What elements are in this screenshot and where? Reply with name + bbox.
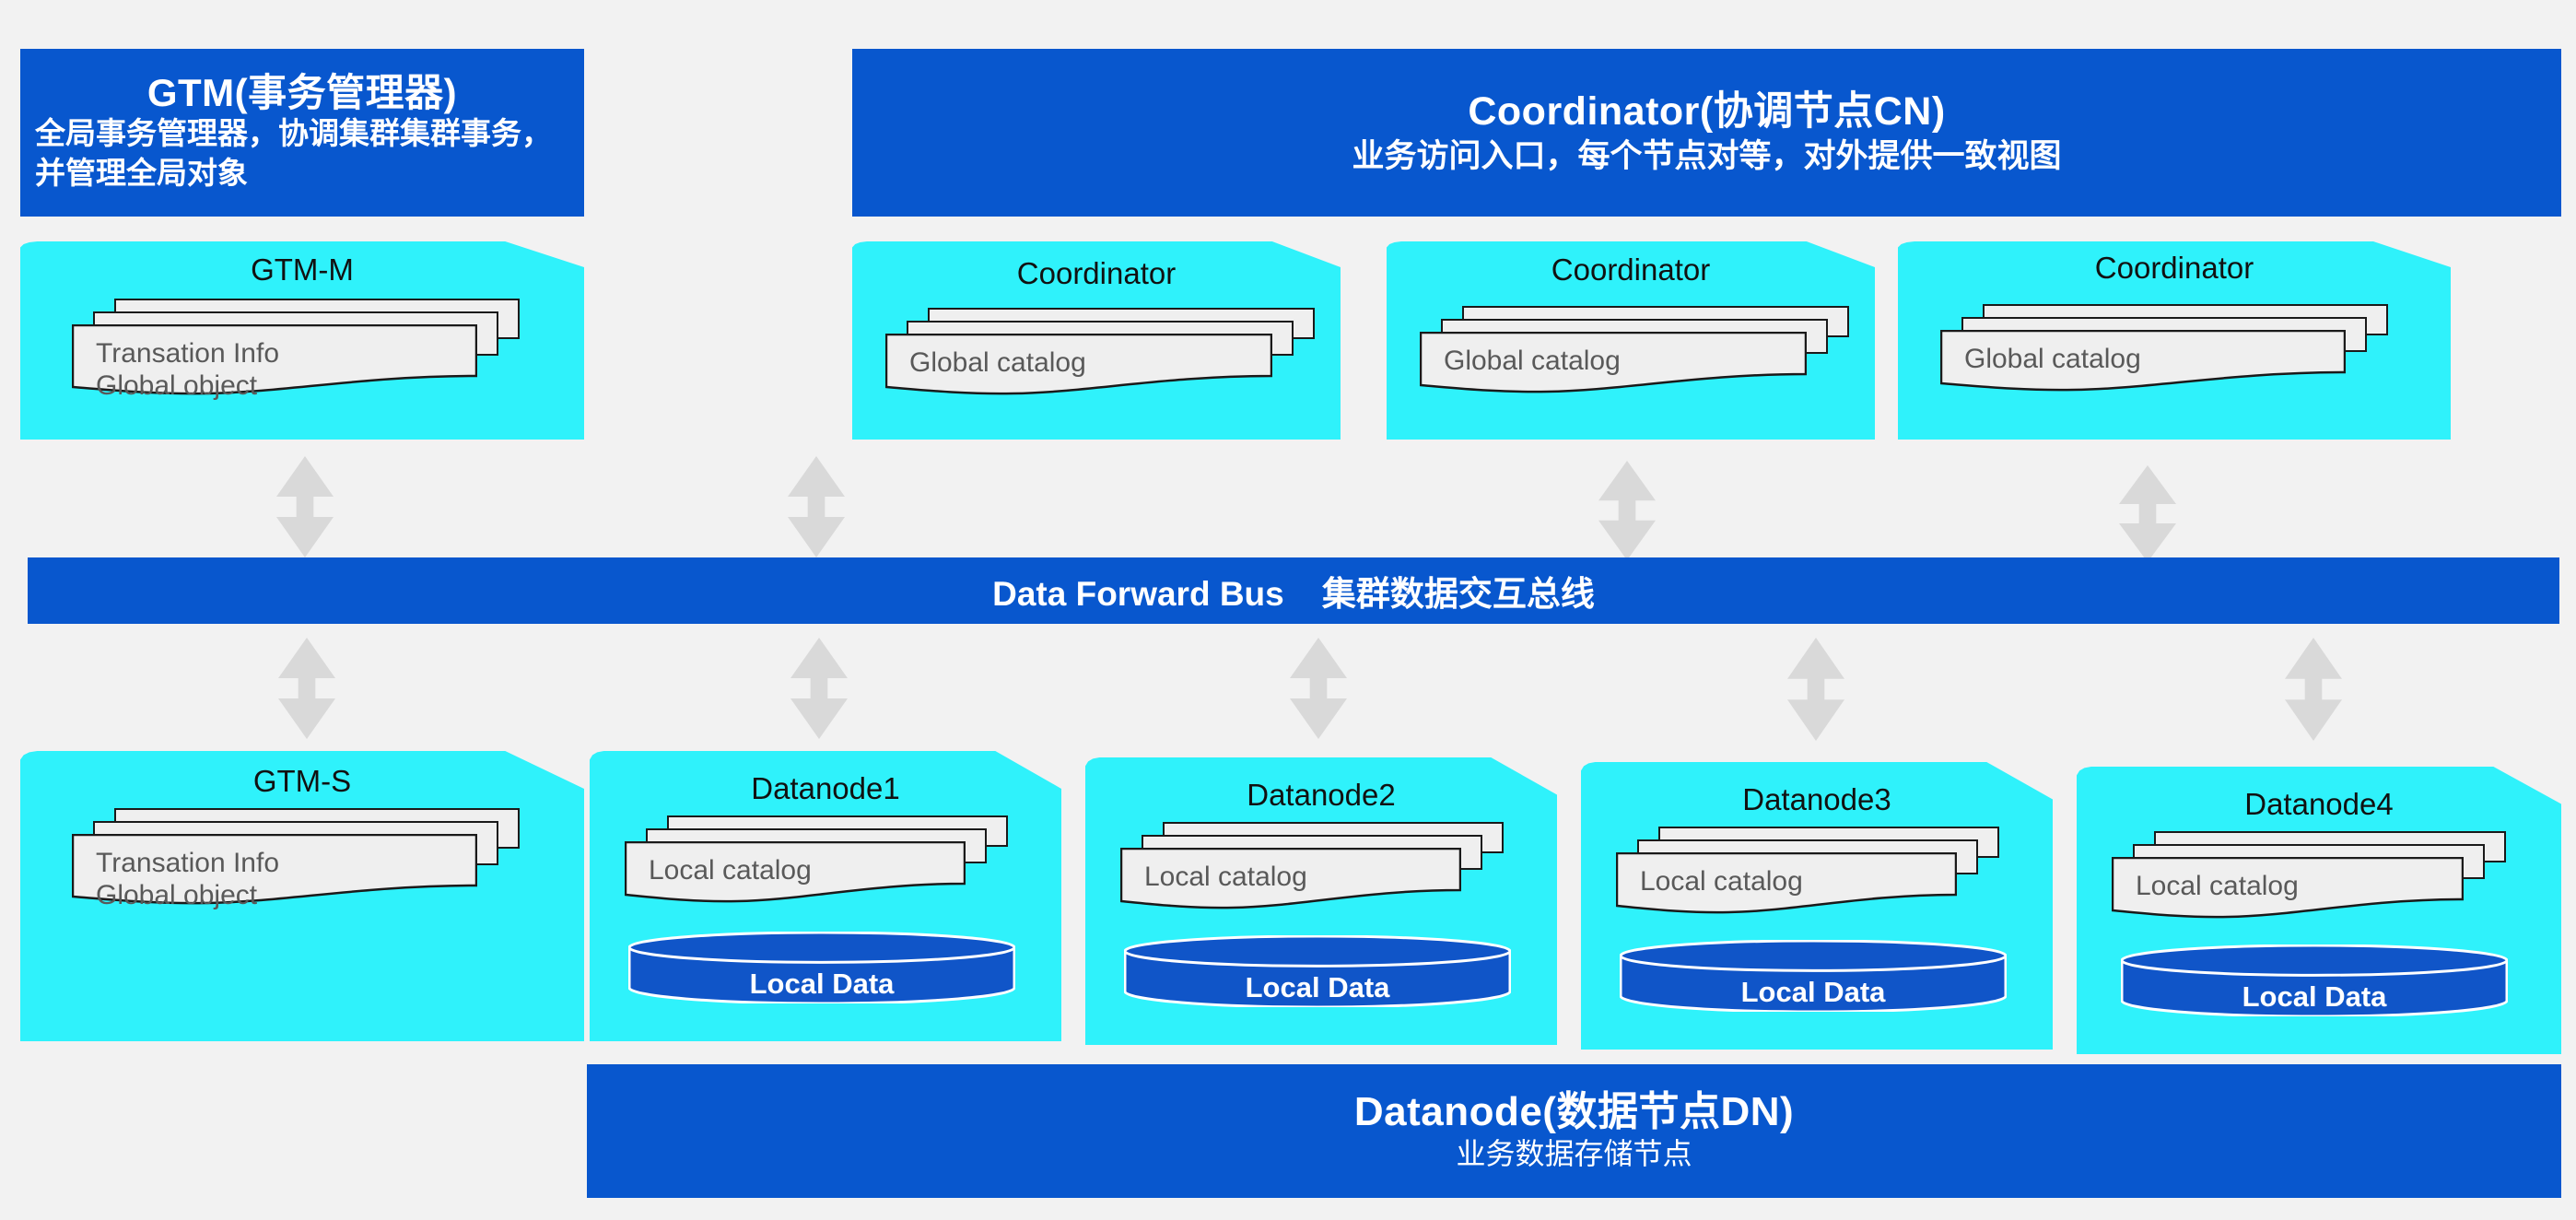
node-title: Coordinator xyxy=(1387,252,1875,287)
bottom-node-3[interactable]: Datanode3Local catalogLocal Data xyxy=(1581,762,2053,1050)
datanode-banner: Datanode(数据节点DN) 业务数据存储节点 xyxy=(587,1064,2561,1198)
bottom-node-2[interactable]: Datanode2Local catalogLocal Data xyxy=(1085,757,1557,1045)
document-sheet-front xyxy=(2112,857,2464,920)
top-node-3[interactable]: CoordinatorGlobal catalog xyxy=(1898,241,2451,440)
top-node-1[interactable]: CoordinatorGlobal catalog xyxy=(852,241,1341,440)
database-cylinder: Local Data xyxy=(2121,944,2508,1016)
bidirectional-arrow-lower-0 xyxy=(278,638,335,739)
document-sheet-front xyxy=(625,841,966,904)
bidirectional-arrow-lower-3 xyxy=(1787,638,1844,741)
database-cylinder: Local Data xyxy=(628,932,1015,1003)
node-title: GTM-S xyxy=(20,764,584,799)
document-stack: Local catalog xyxy=(1120,822,1504,912)
coordinator-banner-subtitle: 业务访问入口，每个节点对等，对外提供一致视图 xyxy=(1352,135,2061,178)
document-stack: Global catalog xyxy=(1940,304,2388,394)
bidirectional-arrow-lower-4 xyxy=(2285,638,2342,741)
bottom-node-1[interactable]: Datanode1Local catalogLocal Data xyxy=(590,751,1061,1041)
bidirectional-arrow-upper-2 xyxy=(1598,461,1656,560)
node-title: Datanode3 xyxy=(1581,782,2053,817)
bidirectional-arrow-lower-1 xyxy=(790,638,848,739)
bottom-node-0[interactable]: GTM-STransation Info Global object xyxy=(20,751,584,1041)
document-sheet-front xyxy=(885,334,1272,396)
bidirectional-arrow-upper-0 xyxy=(276,456,334,557)
document-stack: Transation Info Global object xyxy=(72,299,520,398)
bottom-node-4[interactable]: Datanode4Local catalogLocal Data xyxy=(2077,767,2561,1054)
gtm-banner-title: GTM(事务管理器) xyxy=(35,71,569,114)
gtm-banner-subtitle: 全局事务管理器，协调集群集群事务，并管理全局对象 xyxy=(35,114,569,192)
coordinator-banner-title: Coordinator(协调节点CN) xyxy=(1468,88,1945,135)
bidirectional-arrow-lower-2 xyxy=(1290,638,1347,739)
bidirectional-arrow-upper-1 xyxy=(788,456,845,557)
top-node-2[interactable]: CoordinatorGlobal catalog xyxy=(1387,241,1875,440)
document-sheet-front xyxy=(72,834,477,906)
datanode-banner-subtitle: 业务数据存储节点 xyxy=(1456,1135,1692,1172)
document-stack: Global catalog xyxy=(885,308,1315,398)
node-title: GTM-M xyxy=(20,252,584,287)
node-title: Datanode2 xyxy=(1085,778,1557,813)
document-sheet-front xyxy=(1616,852,1957,915)
node-title: Coordinator xyxy=(852,256,1341,291)
document-stack: Local catalog xyxy=(625,815,1008,906)
data-forward-bus: Data Forward Bus 集群数据交互总线 xyxy=(28,557,2559,624)
database-cylinder: Local Data xyxy=(1124,935,1511,1007)
datanode-banner-title: Datanode(数据节点DN) xyxy=(1354,1090,1794,1134)
document-stack: Global catalog xyxy=(1420,306,1849,396)
document-sheet-front xyxy=(1420,332,1807,394)
document-stack: Local catalog xyxy=(1616,827,1999,917)
architecture-diagram: GTM(事务管理器) 全局事务管理器，协调集群集群事务，并管理全局对象 Coor… xyxy=(0,0,2576,1220)
document-sheet-front xyxy=(1120,848,1461,910)
document-sheet-front xyxy=(1940,330,2346,393)
document-sheet-front xyxy=(72,324,477,396)
node-title: Coordinator xyxy=(1898,251,2451,286)
database-cylinder: Local Data xyxy=(1620,940,2007,1012)
document-stack: Transation Info Global object xyxy=(72,808,520,908)
bidirectional-arrow-upper-3 xyxy=(2119,465,2176,562)
node-title: Datanode4 xyxy=(2077,787,2561,822)
node-title: Datanode1 xyxy=(590,771,1061,806)
top-node-0[interactable]: GTM-MTransation Info Global object xyxy=(20,241,584,440)
document-stack: Local catalog xyxy=(2112,831,2506,921)
coordinator-banner: Coordinator(协调节点CN) 业务访问入口，每个节点对等，对外提供一致… xyxy=(852,49,2561,217)
gtm-banner: GTM(事务管理器) 全局事务管理器，协调集群集群事务，并管理全局对象 xyxy=(20,49,584,217)
